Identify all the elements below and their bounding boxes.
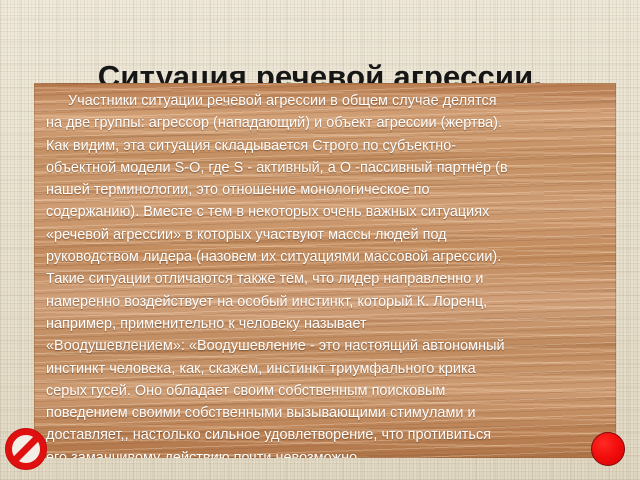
body-line: например, применительно к человеку назыв… — [46, 313, 604, 335]
red-circle-bullet — [591, 432, 625, 466]
slide-canvas: Ситуация речевой агрессии. Участники сит… — [0, 0, 640, 480]
body-line: доставляет,, настолько сильное удовлетво… — [46, 424, 604, 446]
body-line: нашей терминологии, это отношение моноло… — [46, 179, 604, 201]
body-line: на две группы: агрессор (нападающий) и о… — [46, 112, 604, 134]
body-line: Участники ситуации речевой агрессии в об… — [46, 90, 604, 112]
body-line: содержанию). Вместе с тем в некоторых оч… — [46, 201, 604, 223]
body-line: «Воодушевлением»: «Воодушевление - это н… — [46, 335, 604, 357]
body-line: намеренно воздействует на особый инстинк… — [46, 291, 604, 313]
no-entry-icon — [5, 428, 47, 470]
body-line: объектной модели S-O, где S - активный, … — [46, 157, 604, 179]
body-line: руководством лидера (назовем их ситуация… — [46, 246, 604, 268]
body-text-panel: Участники ситуации речевой агрессии в об… — [34, 83, 616, 458]
body-line: его заманчивому действию почти невозможн… — [46, 447, 604, 458]
body-line: серых гусей. Оно обладает своим собствен… — [46, 380, 604, 402]
body-line: поведением своими собственными вызывающи… — [46, 402, 604, 424]
body-line: Такие ситуации отличаются также тем, что… — [46, 268, 604, 290]
body-line: Как видим, эта ситуация складывается Стр… — [46, 135, 604, 157]
body-line: «речевой агрессии» в которых участвуют м… — [46, 224, 604, 246]
body-line: инстинкт человека, как, скажем, инстинкт… — [46, 358, 604, 380]
